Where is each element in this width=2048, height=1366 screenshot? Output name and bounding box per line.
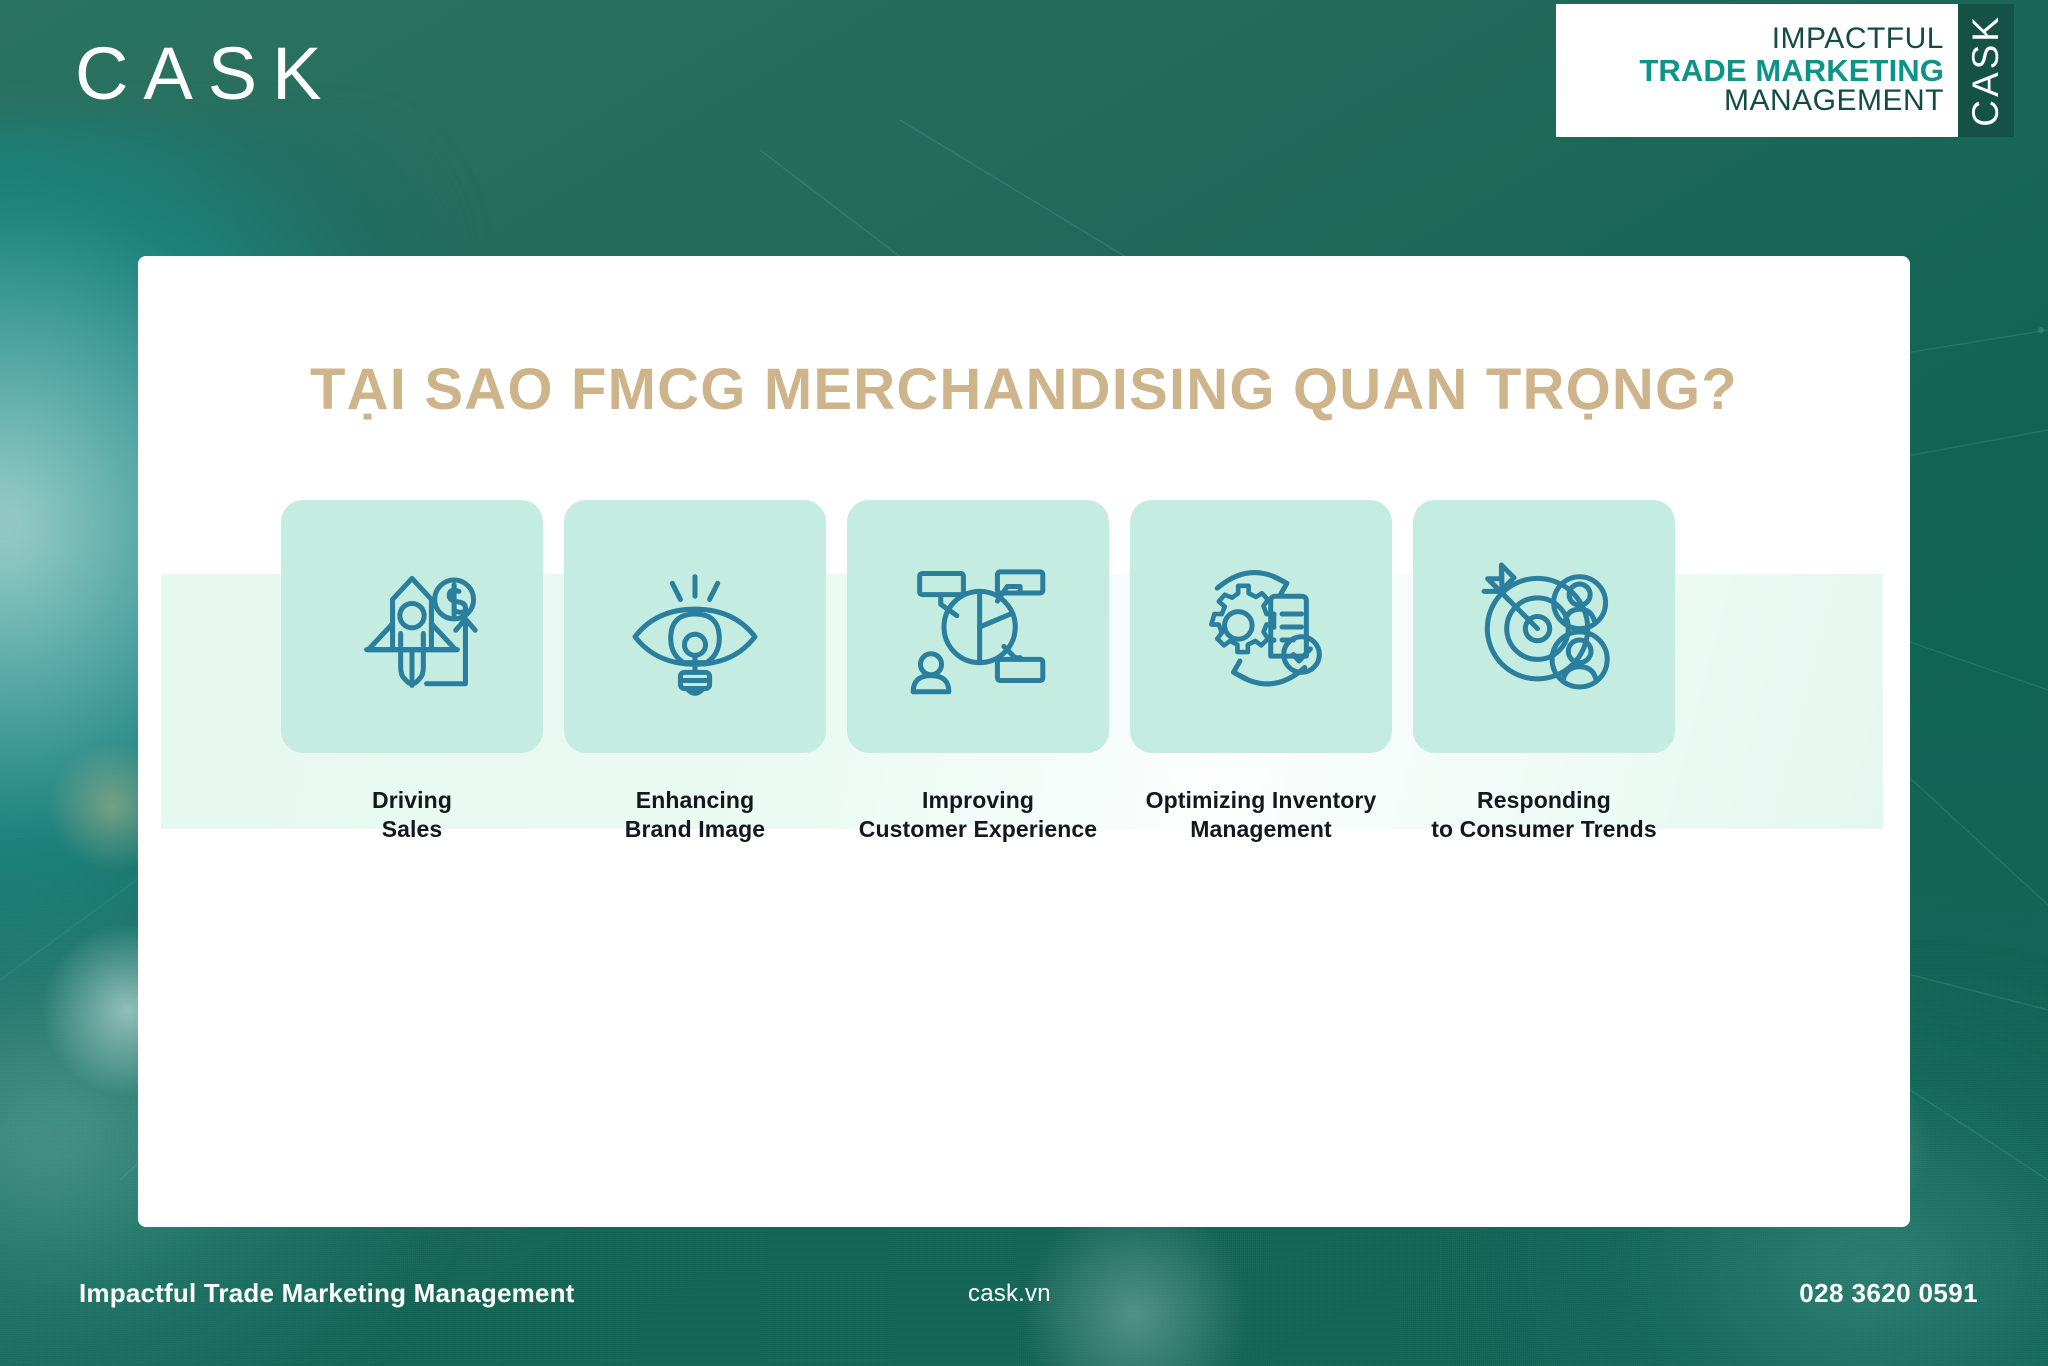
pie-chart-network-person-icon [897,546,1059,708]
feature-icon-tile [281,500,543,753]
rocket-dollar-growth-icon [331,546,493,708]
feature-icon-tile [847,500,1109,753]
badge-line-trade-marketing: TRADE MARKETING [1639,55,1944,87]
page-title: TẠI SAO FMCG MERCHANDISING QUAN TRỌNG? [138,356,1910,423]
footer-program-name: Impactful Trade Marketing Management [79,1278,575,1309]
feature-icon-tile [1130,500,1392,753]
feature-panel: Driving Sales [161,574,1883,829]
feature-icon-tile [1413,500,1675,753]
footer-website[interactable]: cask.vn [968,1280,1051,1308]
eye-lightbulb-icon [614,546,776,708]
program-badge-text: IMPACTFUL TRADE MARKETING MANAGEMENT [1556,4,1958,137]
target-arrow-people-icon [1463,546,1625,708]
footer-phone[interactable]: 028 3620 0591 [1799,1278,1978,1309]
feature-label: Optimizing Inventory Management [1130,786,1392,845]
badge-side-label: CASK [1965,14,2007,127]
badge-line-impactful: IMPACTFUL [1772,24,1944,55]
gear-checklist-cycle-icon [1180,546,1342,708]
feature-item-enhancing-brand-image[interactable]: Enhancing Brand Image [564,500,826,845]
content-card: TẠI SAO FMCG MERCHANDISING QUAN TRỌNG? [138,256,1910,1227]
footer: Impactful Trade Marketing Management cas… [0,1278,2048,1338]
feature-item-driving-sales[interactable]: Driving Sales [281,500,543,845]
feature-label: Enhancing Brand Image [564,786,826,845]
feature-item-optimizing-inventory-management[interactable]: Optimizing Inventory Management [1130,500,1392,845]
feature-icon-tile [564,500,826,753]
feature-label: Driving Sales [281,786,543,845]
program-badge: IMPACTFUL TRADE MARKETING MANAGEMENT CAS… [1556,4,2014,137]
feature-list: Driving Sales [161,574,1883,829]
feature-item-responding-to-consumer-trends[interactable]: Responding to Consumer Trends [1413,500,1675,845]
cask-logo: CASK [75,37,337,111]
badge-side-tab: CASK [1958,4,2014,137]
feature-label: Improving Customer Experience [847,786,1109,845]
feature-item-improving-customer-experience[interactable]: Improving Customer Experience [847,500,1109,845]
feature-label: Responding to Consumer Trends [1413,786,1675,845]
badge-line-management: MANAGEMENT [1724,86,1944,117]
